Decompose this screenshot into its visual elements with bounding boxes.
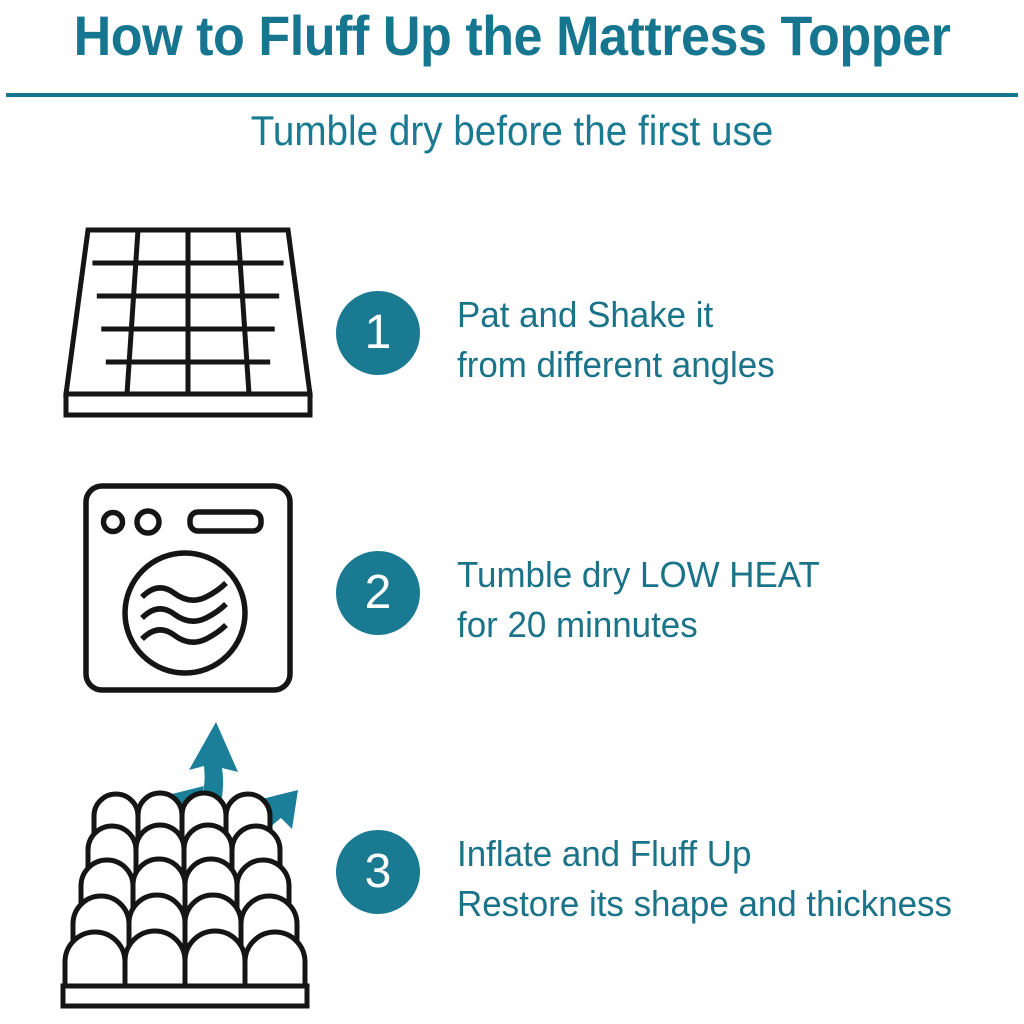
dryer-knob-left	[104, 513, 123, 532]
mattress-topper-puffed-with-arrows-icon	[52, 700, 342, 1010]
dryer-wave-3	[142, 625, 226, 642]
step-3-line-1: Inflate and Fluff Up	[457, 829, 952, 879]
dryer-knob-right	[137, 511, 159, 533]
step-1-number: 1	[365, 309, 392, 357]
step-2-badge: 2	[336, 551, 420, 635]
tumble-dryer-icon	[80, 480, 296, 696]
step-3-badge: 3	[336, 830, 420, 914]
step-3-line-2: Restore its shape and thickness	[457, 879, 952, 929]
dryer-display	[190, 512, 261, 531]
step-3-text: Inflate and Fluff Up Restore its shape a…	[457, 829, 952, 928]
step-1-line-1: Pat and Shake it	[457, 290, 775, 340]
step-2-text: Tumble dry LOW HEAT for 20 minnutes	[457, 550, 820, 649]
page-title: How to Fluff Up the Mattress Topper	[36, 8, 988, 64]
mattress-topper-flat-grid-icon	[52, 222, 324, 422]
dryer-wave-1	[142, 583, 226, 600]
step-2-number: 2	[365, 569, 392, 617]
title-divider	[6, 93, 1018, 97]
step-1-text: Pat and Shake it from different angles	[457, 290, 775, 389]
step-2-line-1: Tumble dry LOW HEAT	[457, 550, 820, 600]
step-3-number: 3	[365, 848, 392, 896]
dryer-door	[125, 553, 245, 673]
topper-edge-band	[63, 986, 307, 1006]
step-2-line-2: for 20 minnutes	[457, 600, 820, 650]
step-1-badge: 1	[336, 291, 420, 375]
infographic-page: How to Fluff Up the Mattress Topper Tumb…	[0, 0, 1024, 1024]
page-subtitle: Tumble dry before the first use	[41, 110, 983, 152]
step-1-line-2: from different angles	[457, 340, 775, 390]
dryer-wave-2	[142, 604, 226, 621]
